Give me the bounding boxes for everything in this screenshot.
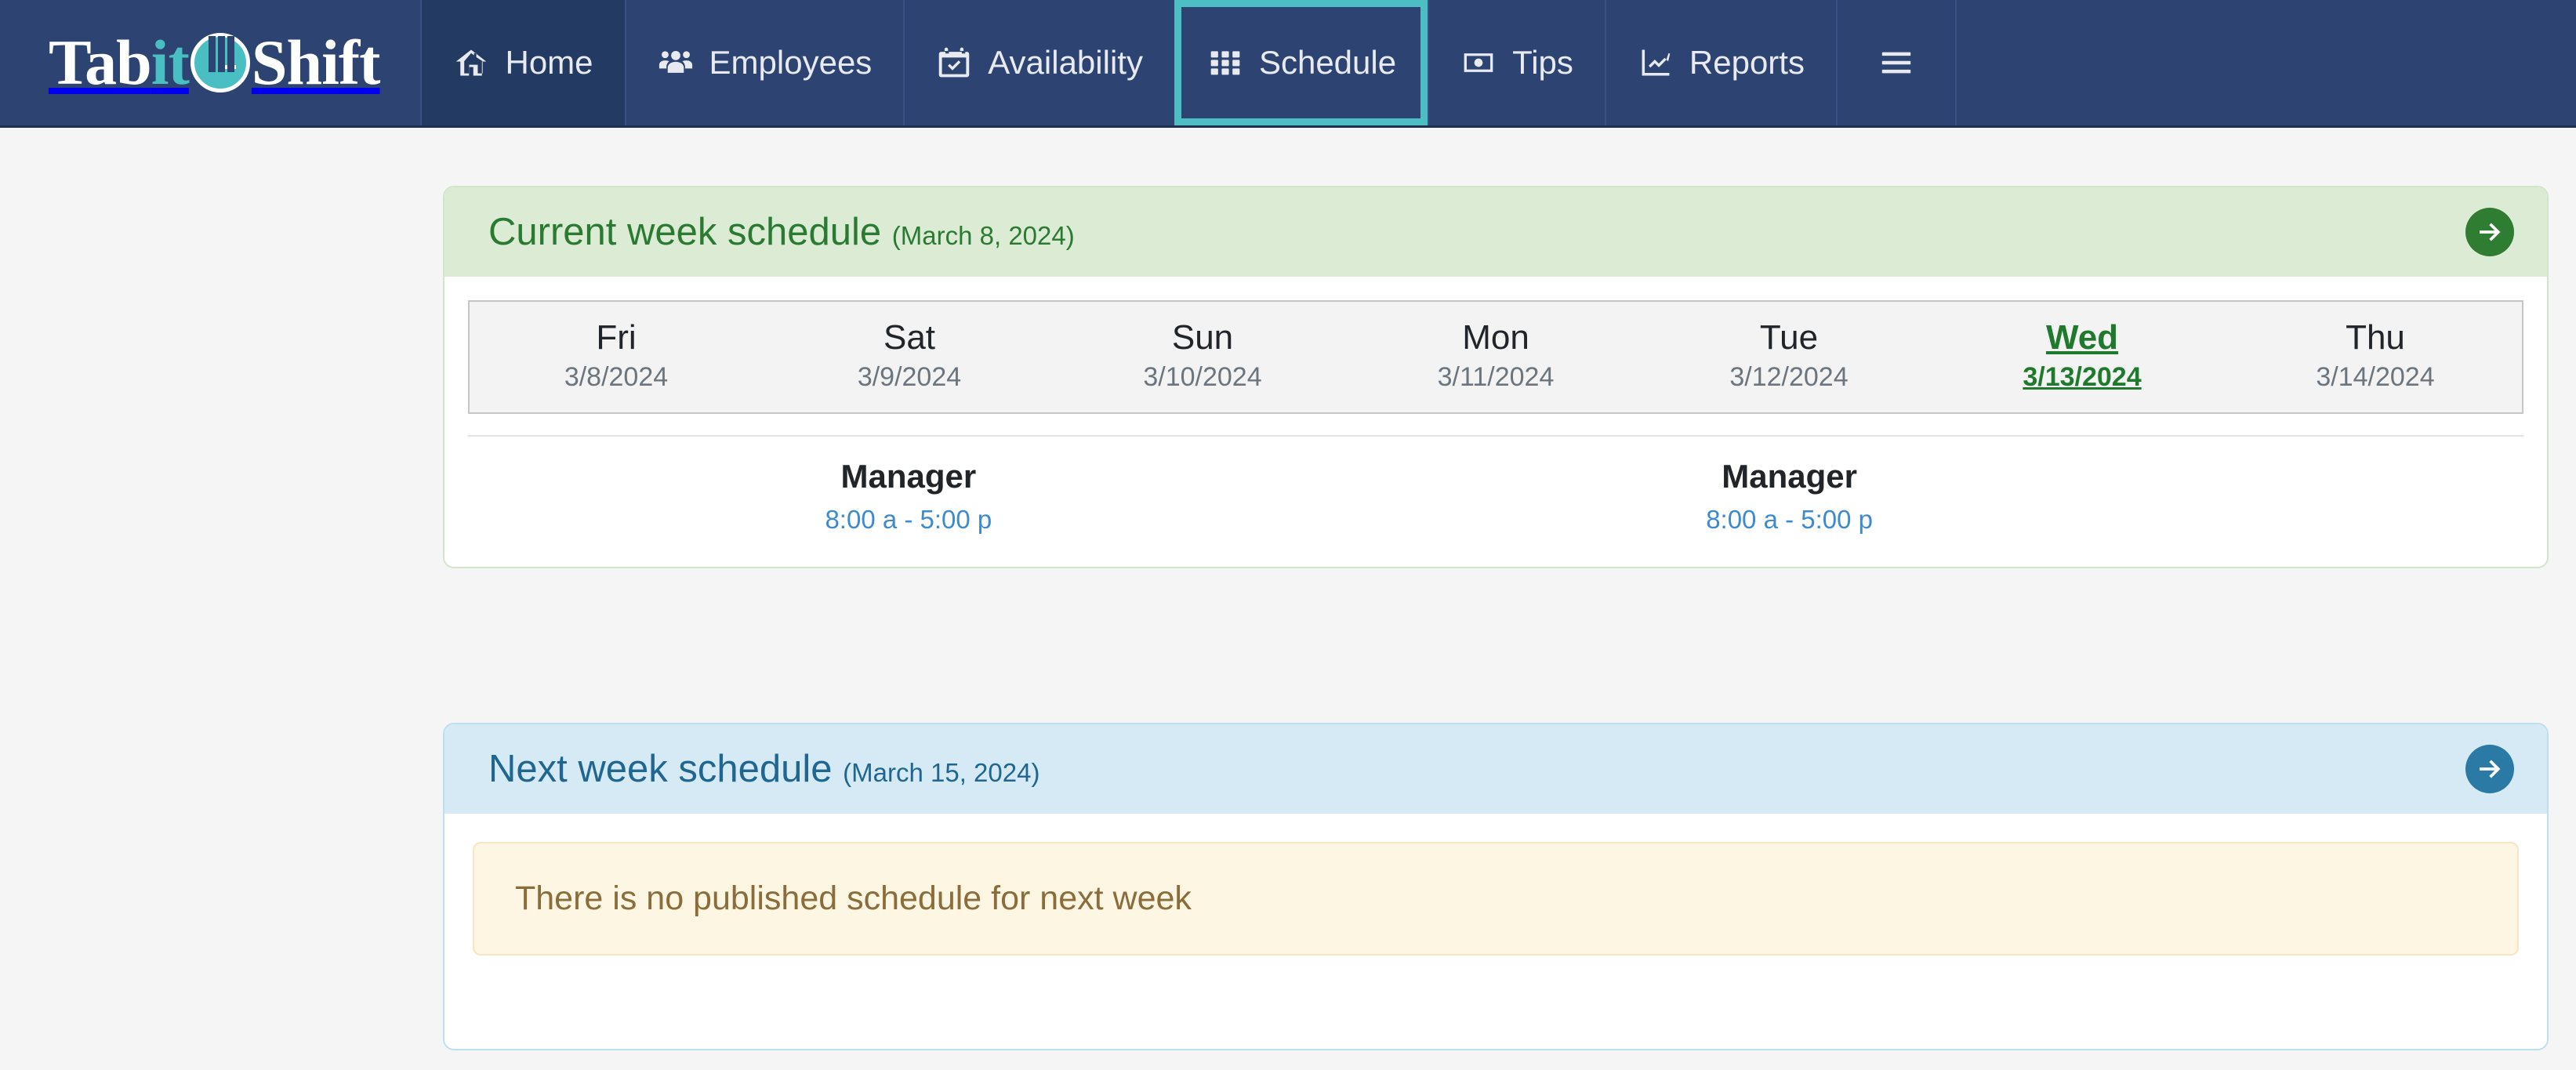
arrow-right-circle-icon [2473, 216, 2506, 248]
day-column-mon[interactable]: Mon 3/11/2024 [1349, 302, 1642, 412]
nav-item-label: Employees [709, 44, 873, 82]
week-header-wrapper: Fri 3/8/2024 Sat 3/9/2024 Sun 3/10/2024 … [444, 277, 2547, 414]
next-week-go-button[interactable] [2465, 745, 2514, 793]
current-week-go-button[interactable] [2465, 208, 2514, 256]
nav-item-label: Schedule [1259, 44, 1396, 82]
brand-logo[interactable]: TabitShift [0, 0, 420, 125]
next-week-schedule-card: Next week schedule (March 15, 2024) Ther… [443, 723, 2549, 1050]
current-week-header: Current week schedule (March 8, 2024) [444, 187, 2547, 277]
brand-text-part-1: Tab [49, 31, 151, 95]
day-name: Sun [1059, 317, 1346, 358]
brand-text-part-3: Shift [252, 31, 380, 95]
week-day-header-row: Fri 3/8/2024 Sat 3/9/2024 Sun 3/10/2024 … [468, 300, 2523, 414]
top-navigation-bar: TabitShift Home Employees Availability [0, 0, 2576, 128]
day-column-tue[interactable]: Tue 3/12/2024 [1642, 302, 1936, 412]
grid-icon [1207, 45, 1243, 81]
brand-text-part-2: it [151, 31, 189, 95]
next-week-title: Next week schedule (March 15, 2024) [488, 750, 1039, 789]
nav-item-label: Availability [988, 44, 1143, 82]
nav-item-label: Tips [1512, 44, 1573, 82]
day-column-wed-today[interactable]: Wed 3/13/2024 [1936, 302, 2229, 412]
day-name: Wed [1939, 317, 2226, 358]
shift-cell-mon [1349, 457, 1643, 535]
fork-icon [218, 36, 225, 72]
shift-cell-fri [468, 457, 762, 535]
day-date: 3/9/2024 [766, 361, 1053, 394]
day-name: Thu [2232, 317, 2519, 358]
day-column-fri[interactable]: Fri 3/8/2024 [470, 302, 763, 412]
day-name: Tue [1645, 317, 1932, 358]
nav-item-schedule[interactable]: Schedule [1174, 0, 1428, 125]
day-column-thu[interactable]: Thu 3/14/2024 [2229, 302, 2522, 412]
shift-role: Manager [762, 457, 1056, 496]
nav-item-home[interactable]: Home [420, 0, 624, 125]
day-column-sun[interactable]: Sun 3/10/2024 [1056, 302, 1349, 412]
hamburger-menu-button[interactable] [1836, 0, 1955, 125]
chart-line-icon [1638, 45, 1674, 81]
day-date: 3/14/2024 [2232, 361, 2519, 394]
next-week-header: Next week schedule (March 15, 2024) [444, 724, 2547, 814]
nav-item-label: Home [505, 44, 593, 82]
nav-spacer [1955, 0, 2576, 125]
current-week-title-text: Current week schedule [488, 211, 881, 253]
day-date: 3/8/2024 [473, 361, 760, 394]
nav-item-availability[interactable]: Availability [903, 0, 1174, 125]
current-week-title: Current week schedule (March 8, 2024) [488, 213, 1075, 252]
next-week-alert-wrapper: There is no published schedule for next … [444, 814, 2547, 999]
arrow-right-circle-icon [2473, 753, 2506, 785]
hamburger-menu-icon [1878, 45, 1914, 81]
day-name: Fri [473, 317, 760, 358]
day-name: Mon [1352, 317, 1639, 358]
nav-item-reports[interactable]: Reports [1605, 0, 1836, 125]
current-week-subtitle: (March 8, 2024) [892, 221, 1075, 250]
nav-item-employees[interactable]: Employees [625, 0, 904, 125]
nav-item-label: Reports [1689, 44, 1805, 82]
shift-cell-wed [1936, 457, 2230, 535]
shift-role: Manager [1642, 457, 1936, 496]
shift-cell-thu [2230, 457, 2523, 535]
day-date: 3/13/2024 [1939, 361, 2226, 394]
day-date: 3/12/2024 [1645, 361, 1932, 394]
next-week-subtitle: (March 15, 2024) [843, 758, 1039, 787]
next-week-body: There is no published schedule for next … [444, 814, 2547, 999]
shift-cell-tue[interactable]: Manager 8:00 a - 5:00 p [1642, 457, 1936, 535]
current-week-body: Fri 3/8/2024 Sat 3/9/2024 Sun 3/10/2024 … [444, 277, 2547, 567]
day-date: 3/10/2024 [1059, 361, 1346, 394]
next-week-title-text: Next week schedule [488, 748, 833, 790]
no-schedule-alert: There is no published schedule for next … [473, 842, 2519, 956]
shift-time[interactable]: 8:00 a - 5:00 p [762, 504, 1056, 535]
shift-cell-sun [1055, 457, 1349, 535]
calendar-check-icon [936, 45, 972, 81]
day-date: 3/11/2024 [1352, 361, 1639, 394]
home-icon [453, 45, 489, 81]
users-icon [658, 45, 694, 81]
day-column-sat[interactable]: Sat 3/9/2024 [763, 302, 1056, 412]
nav-item-tips[interactable]: Tips [1428, 0, 1605, 125]
day-name: Sat [766, 317, 1053, 358]
shift-time[interactable]: 8:00 a - 5:00 p [1642, 504, 1936, 535]
shift-cell-sat[interactable]: Manager 8:00 a - 5:00 p [762, 457, 1056, 535]
shift-row: Manager 8:00 a - 5:00 p Manager 8:00 a -… [468, 435, 2523, 567]
money-bill-icon [1460, 45, 1497, 81]
nav-item-list: Home Employees Availability Schedule Tip [420, 0, 2576, 125]
current-week-schedule-card: Current week schedule (March 8, 2024) Fr… [443, 186, 2549, 568]
